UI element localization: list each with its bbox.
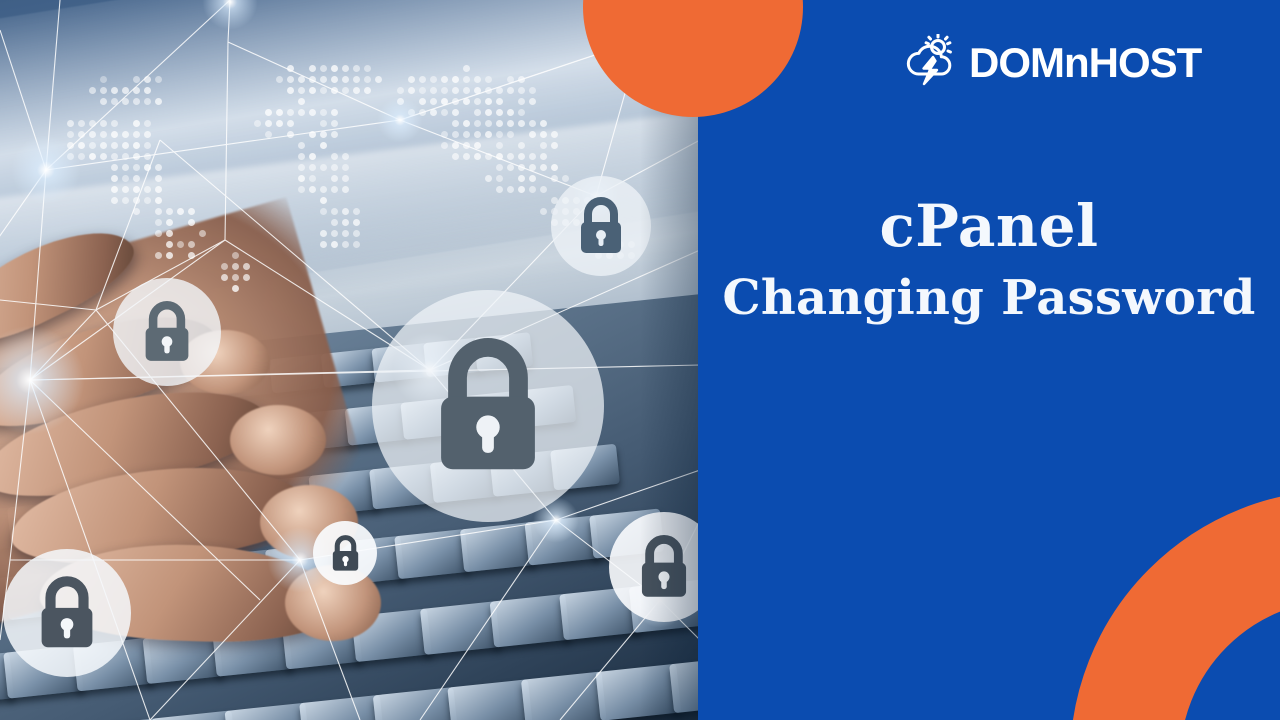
cloud-lightning-sun-icon <box>903 34 959 91</box>
headline-block: cPanel Changing Password <box>698 196 1280 326</box>
brand-name: DOMnHOST <box>969 42 1201 84</box>
padlock-icon-top-right <box>551 176 651 276</box>
light-flare <box>11 135 81 205</box>
padlock-icon-left <box>113 278 221 386</box>
page-subtitle: Changing Password <box>698 271 1280 326</box>
orange-ring-decor <box>1070 490 1280 720</box>
padlock-icon-center <box>372 290 604 522</box>
brand-panel: DOMnHOST cPanel Changing Password <box>698 0 1280 720</box>
page-title: cPanel <box>698 196 1280 257</box>
padlock-icon-bottom-center <box>313 521 377 585</box>
brand-logo[interactable]: DOMnHOST <box>903 34 1201 91</box>
light-flare <box>377 97 423 143</box>
slide-canvas: DOMnHOST cPanel Changing Password <box>0 0 1280 720</box>
hero-photo <box>0 0 700 720</box>
padlock-icon-bottom-left <box>3 549 131 677</box>
